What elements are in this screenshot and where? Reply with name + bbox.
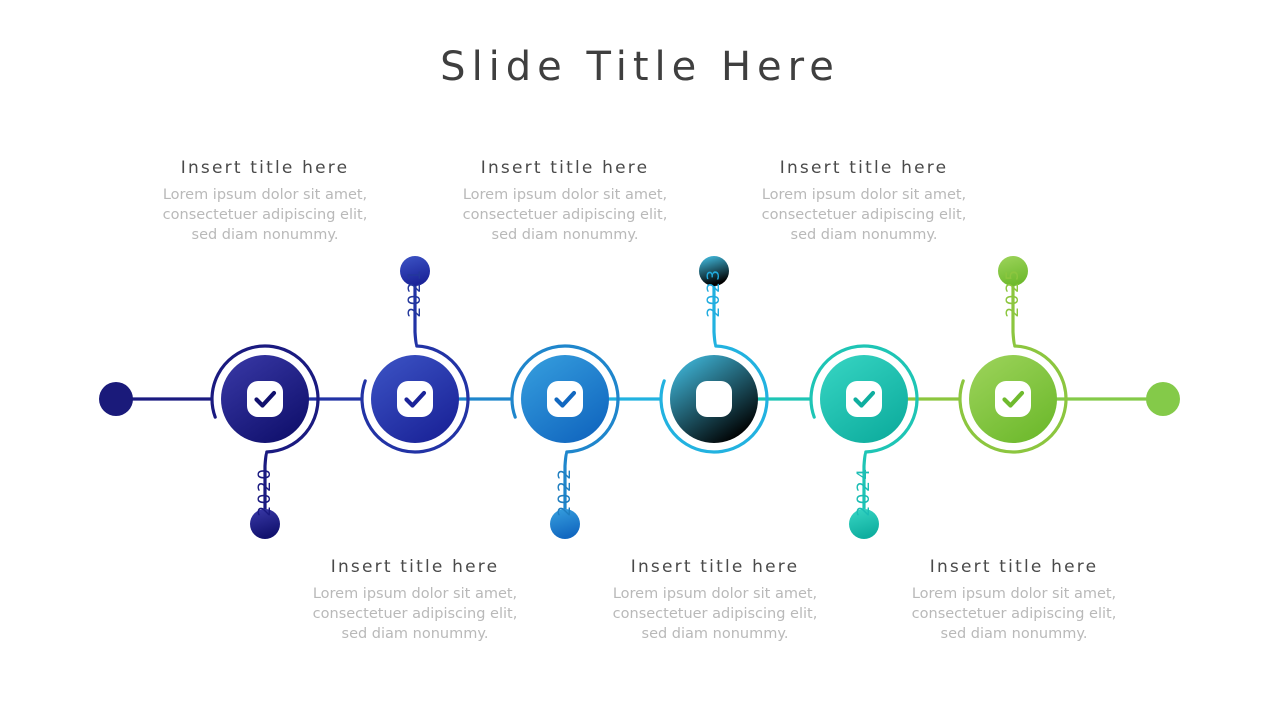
year-label-2020: 2020 bbox=[254, 462, 276, 522]
text-block-title: Insert title here bbox=[754, 158, 974, 178]
text-block-title: Insert title here bbox=[605, 557, 825, 577]
text-block: Insert title hereLorem ipsum dolor sit a… bbox=[455, 158, 675, 245]
year-label-2021: 2021 bbox=[404, 263, 426, 323]
text-block-body: Lorem ipsum dolor sit amet, consectetuer… bbox=[305, 584, 525, 644]
text-block-title: Insert title here bbox=[455, 158, 675, 178]
text-block-title: Insert title here bbox=[155, 158, 375, 178]
text-block: Insert title hereLorem ipsum dolor sit a… bbox=[155, 158, 375, 245]
slide-canvas: Slide Title Here 20202021202220232024202… bbox=[0, 0, 1280, 720]
node-2022-badge bbox=[547, 381, 583, 417]
timeline-endpoint-right bbox=[1146, 382, 1180, 416]
year-label-2022: 2022 bbox=[554, 462, 576, 522]
text-block: Insert title hereLorem ipsum dolor sit a… bbox=[904, 557, 1124, 644]
text-block: Insert title hereLorem ipsum dolor sit a… bbox=[754, 158, 974, 245]
text-block-body: Lorem ipsum dolor sit amet, consectetuer… bbox=[904, 584, 1124, 644]
text-block-body: Lorem ipsum dolor sit amet, consectetuer… bbox=[155, 185, 375, 245]
timeline-endpoint-left bbox=[99, 382, 133, 416]
text-block: Insert title hereLorem ipsum dolor sit a… bbox=[605, 557, 825, 644]
text-block-title: Insert title here bbox=[305, 557, 525, 577]
node-2024-badge bbox=[846, 381, 882, 417]
text-block: Insert title hereLorem ipsum dolor sit a… bbox=[305, 557, 525, 644]
text-block-body: Lorem ipsum dolor sit amet, consectetuer… bbox=[605, 584, 825, 644]
year-label-2024: 2024 bbox=[853, 462, 875, 522]
node-2023-badge bbox=[696, 381, 732, 417]
text-block-body: Lorem ipsum dolor sit amet, consectetuer… bbox=[455, 185, 675, 245]
text-block-title: Insert title here bbox=[904, 557, 1124, 577]
year-label-2025: 2025 bbox=[1002, 263, 1024, 323]
node-2020-badge bbox=[247, 381, 283, 417]
node-2021-badge bbox=[397, 381, 433, 417]
text-block-body: Lorem ipsum dolor sit amet, consectetuer… bbox=[754, 185, 974, 245]
node-2025-badge bbox=[995, 381, 1031, 417]
year-label-2023: 2023 bbox=[703, 263, 725, 323]
